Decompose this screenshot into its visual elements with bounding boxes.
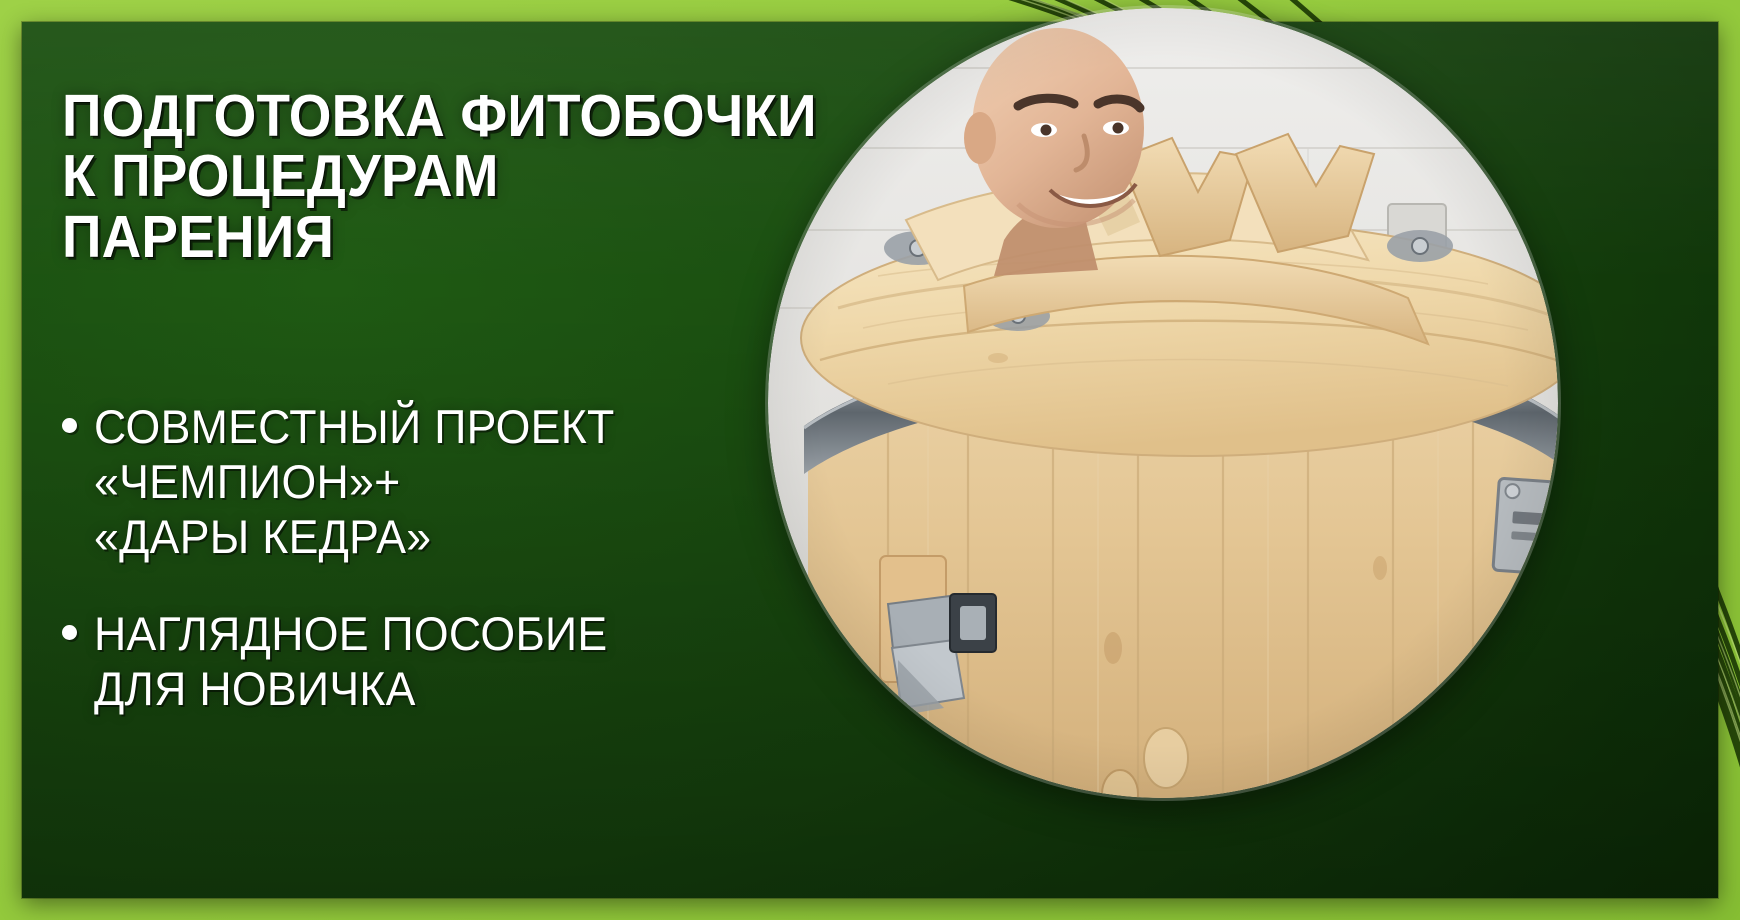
bullet-1-line-3: «ДАРЫ КЕДРА» bbox=[94, 510, 615, 565]
bullet-2-line-1: НАГЛЯДНОЕ ПОСОБИЕ bbox=[94, 607, 607, 662]
bullet-dot-icon bbox=[62, 418, 77, 433]
bullet-1-text: СОВМЕСТНЫЙ ПРОЕКТ «ЧЕМПИОН»+ «ДАРЫ КЕДРА… bbox=[94, 400, 615, 565]
title-block: ПОДГОТОВКА ФИТОБОЧКИ К ПРОЦЕДУРАМ ПАРЕНИ… bbox=[62, 46, 942, 307]
thumbnail-canvas: ПОДГОТОВКА ФИТОБОЧКИ К ПРОЦЕДУРАМ ПАРЕНИ… bbox=[0, 0, 1740, 920]
page-title: ПОДГОТОВКА ФИТОБОЧКИ К ПРОЦЕДУРАМ ПАРЕНИ… bbox=[62, 86, 880, 268]
bullet-2-text: НАГЛЯДНОЕ ПОСОБИЕ ДЛЯ НОВИЧКА bbox=[94, 607, 607, 717]
list-item: СОВМЕСТНЫЙ ПРОЕКТ «ЧЕМПИОН»+ «ДАРЫ КЕДРА… bbox=[62, 400, 892, 565]
bullet-dot-icon bbox=[62, 625, 77, 640]
bullet-list: СОВМЕСТНЫЙ ПРОЕКТ «ЧЕМПИОН»+ «ДАРЫ КЕДРА… bbox=[62, 400, 892, 717]
bullet-1-line-2: «ЧЕМПИОН»+ bbox=[94, 455, 615, 510]
title-line-2: К ПРОЦЕДУРАМ bbox=[62, 146, 880, 207]
bullet-1-line-1: СОВМЕСТНЫЙ ПРОЕКТ bbox=[94, 400, 615, 455]
bullet-2-line-2: ДЛЯ НОВИЧКА bbox=[94, 662, 607, 717]
title-line-3: ПАРЕНИЯ bbox=[62, 207, 880, 268]
list-item: НАГЛЯДНОЕ ПОСОБИЕ ДЛЯ НОВИЧКА bbox=[62, 607, 892, 717]
title-line-1: ПОДГОТОВКА ФИТОБОЧКИ bbox=[62, 86, 880, 147]
